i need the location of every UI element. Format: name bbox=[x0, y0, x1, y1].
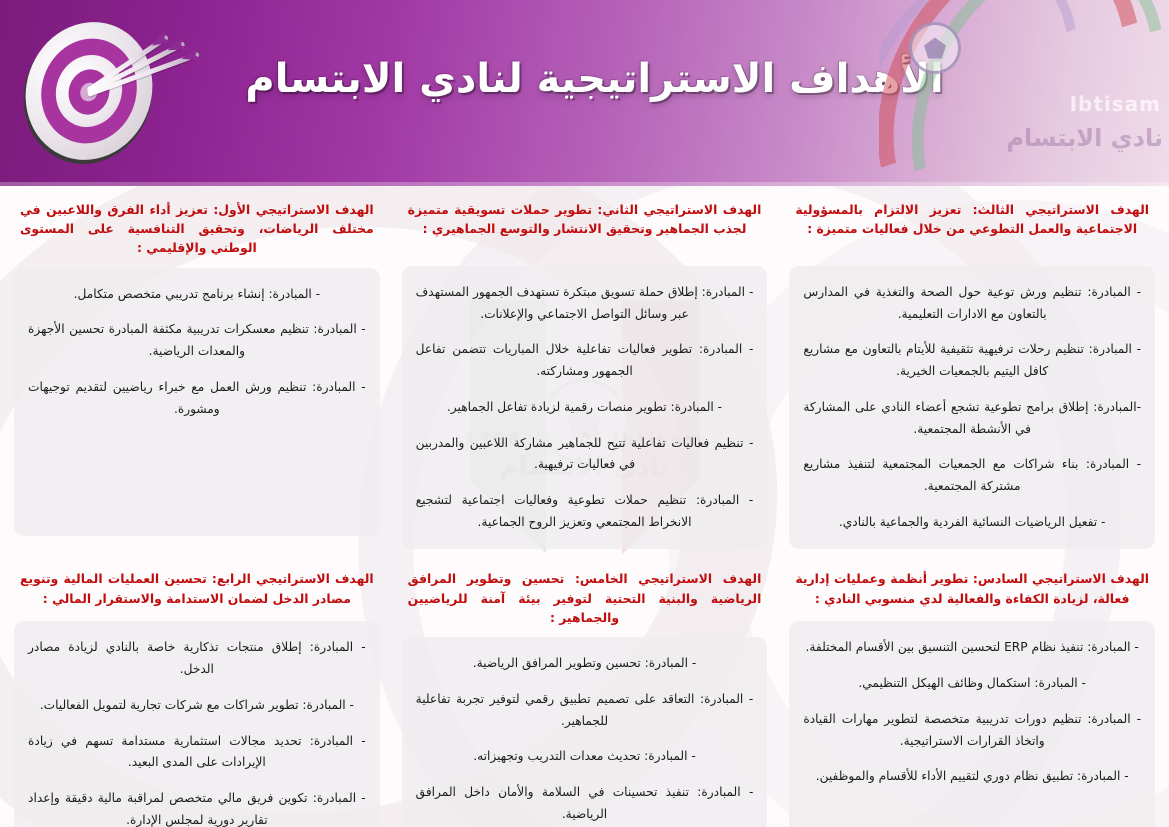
page-header: الأهداف الاستراتيجية لنادي الابتسام Ibti… bbox=[0, 0, 1169, 186]
list-item: - تفعيل الرياضيات النسائية الفردية والجم… bbox=[803, 512, 1141, 534]
initiative-list: - المبادرة: إطلاق حملة تسويق مبتكرة تسته… bbox=[416, 282, 754, 533]
objective-heading: الهدف الاستراتيجي الثالث: تعزيز الالتزام… bbox=[789, 200, 1155, 266]
objective-card-1: الهدف الاستراتيجي الأول: تعزيز أداء الفر… bbox=[14, 200, 380, 549]
objective-heading: الهدف الاستراتيجي الرابع: تحسين العمليات… bbox=[14, 559, 380, 621]
club-logo-latin-name: Ibtisam bbox=[1070, 92, 1161, 116]
objective-card-4: الهدف الاستراتيجي الرابع: تحسين العمليات… bbox=[14, 559, 380, 827]
objective-card-2: الهدف الاستراتيجي الثاني: تطوير حملات تس… bbox=[402, 200, 768, 549]
list-item: - المبادرة: تنظيم رحلات ترفيهية تثقيفية … bbox=[803, 339, 1141, 382]
list-item: - المبادرة: إنشاء برنامج تدريبي متخصص مت… bbox=[28, 284, 366, 306]
list-item: - المبادرة: استكمال وظائف الهيكل التنظيم… bbox=[803, 673, 1141, 695]
objectives-grid: الهدف الاستراتيجي الثالث: تعزيز الالتزام… bbox=[0, 186, 1169, 827]
list-item: - المبادرة: تطوير فعاليات تفاعلية خلال ا… bbox=[416, 339, 754, 382]
list-item: - المبادرة: تنظيم ورش توعية حول الصحة وا… bbox=[803, 282, 1141, 325]
list-item: - المبادرة: تطوير شراكات مع شركات تجارية… bbox=[28, 695, 366, 717]
list-item: - المبادرة: تنظيم حملات تطوعية وفعاليات … bbox=[416, 490, 754, 533]
initiative-list: - المبادرة: تحسين وتطوير المرافق الرياضي… bbox=[416, 653, 754, 825]
list-item: - المبادرة: تطوير منصات رقمية لزيادة تفا… bbox=[416, 397, 754, 419]
list-item: - المبادرة: تنظيم دورات تدريبية متخصصة ل… bbox=[803, 709, 1141, 752]
initiative-list: - المبادرة: إطلاق منتجات تذكارية خاصة با… bbox=[28, 637, 366, 827]
objective-initiatives-panel: - المبادرة: إطلاق منتجات تذكارية خاصة با… bbox=[14, 621, 380, 827]
objective-initiatives-panel: - المبادرة: تنظيم ورش توعية حول الصحة وا… bbox=[789, 266, 1155, 549]
list-item: - المبادرة: تنفيذ نظام ERP لتحسين التنسي… bbox=[803, 637, 1141, 659]
objective-initiatives-panel: - المبادرة: تحسين وتطوير المرافق الرياضي… bbox=[402, 637, 768, 827]
list-item: - المبادرة: التعاقد على تصميم تطبيق رقمي… bbox=[416, 689, 754, 732]
list-item: - المبادرة: إطلاق حملة تسويق مبتكرة تسته… bbox=[416, 282, 754, 325]
objective-initiatives-panel: - المبادرة: إنشاء برنامج تدريبي متخصص مت… bbox=[14, 268, 380, 536]
objective-heading: الهدف الاستراتيجي الخامس: تحسين وتطوير ا… bbox=[402, 559, 768, 637]
objective-heading: الهدف الاستراتيجي الثاني: تطوير حملات تس… bbox=[402, 200, 768, 266]
list-item: - المبادرة: تحسين وتطوير المرافق الرياضي… bbox=[416, 653, 754, 675]
club-logo: Ibtisam نادي الابتسام bbox=[879, 0, 1169, 186]
list-item: - المبادرة: تنفيذ تحسينات في السلامة وال… bbox=[416, 782, 754, 825]
objective-initiatives-panel: - المبادرة: تنفيذ نظام ERP لتحسين التنسي… bbox=[789, 621, 1155, 827]
list-item: - المبادرة: تحديد مجالات استثمارية مستدا… bbox=[28, 731, 366, 774]
objective-initiatives-panel: - المبادرة: إطلاق حملة تسويق مبتكرة تسته… bbox=[402, 266, 768, 549]
list-item: - المبادرة: تحديث معدات التدريب وتجهيزات… bbox=[416, 746, 754, 768]
initiative-list: - المبادرة: تنظيم ورش توعية حول الصحة وا… bbox=[803, 282, 1141, 533]
initiative-list: - المبادرة: إنشاء برنامج تدريبي متخصص مت… bbox=[28, 284, 366, 421]
objective-card-6: الهدف الاستراتيجي السادس: تطوير أنظمة وع… bbox=[789, 559, 1155, 827]
objective-heading: الهدف الاستراتيجي الأول: تعزيز أداء الفر… bbox=[14, 200, 380, 268]
initiative-list: - المبادرة: تنفيذ نظام ERP لتحسين التنسي… bbox=[803, 637, 1141, 788]
list-item: - المبادرة: تنظيم معسكرات تدريبية مكثفة … bbox=[28, 319, 366, 362]
list-item: - المبادرة: بناء شراكات مع الجمعيات المج… bbox=[803, 454, 1141, 497]
objective-card-3: الهدف الاستراتيجي الثالث: تعزيز الالتزام… bbox=[789, 200, 1155, 549]
club-logo-arabic-name: نادي الابتسام bbox=[1006, 124, 1163, 152]
list-item: - تنظيم فعاليات تفاعلية تتيح للجماهير مش… bbox=[416, 433, 754, 476]
objective-card-5: الهدف الاستراتيجي الخامس: تحسين وتطوير ا… bbox=[402, 559, 768, 827]
objective-heading: الهدف الاستراتيجي السادس: تطوير أنظمة وع… bbox=[789, 559, 1155, 621]
list-item: -المبادرة: إطلاق برامج تطوعية تشجع أعضاء… bbox=[803, 397, 1141, 440]
list-item: - المبادرة: تنظيم ورش العمل مع خبراء ريا… bbox=[28, 377, 366, 420]
infographic-page: 1388Al Ibtisam نادي الابتسام الأهداف الا… bbox=[0, 0, 1169, 827]
list-item: - المبادرة: إطلاق منتجات تذكارية خاصة با… bbox=[28, 637, 366, 680]
list-item: - المبادرة: تطبيق نظام دوري لتقييم الأدا… bbox=[803, 766, 1141, 788]
football-icon bbox=[909, 22, 961, 74]
list-item: - المبادرة: تكوين فريق مالي متخصص لمراقب… bbox=[28, 788, 366, 827]
